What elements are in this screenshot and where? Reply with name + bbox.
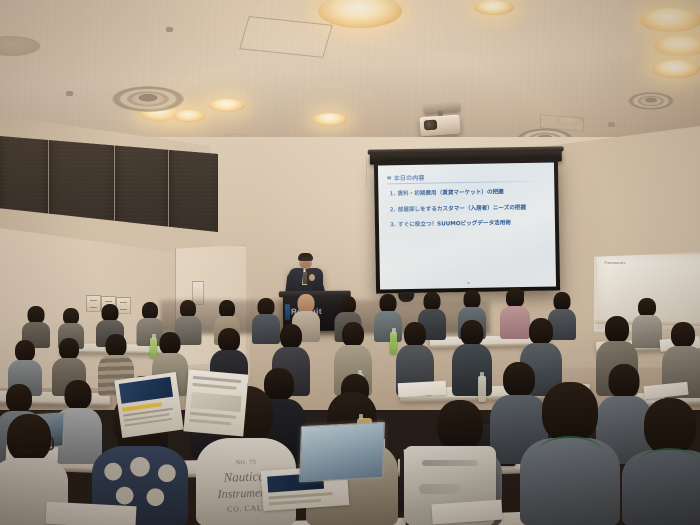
projector-lens <box>424 120 438 131</box>
audience-area: NO. 75 Nautical Instruments CO. CAL. <box>0 288 700 525</box>
attendee-lanyard <box>639 448 700 478</box>
booklet-line <box>269 499 321 506</box>
sprinkler-head <box>608 122 615 127</box>
slide-page-marker <box>466 282 469 284</box>
downlight <box>640 8 700 32</box>
bullet-number: 2. <box>390 207 396 213</box>
bullet-text: すぐに役立つ！SUUMOビッグデータ活用術 <box>398 221 511 229</box>
handout-paper <box>398 381 447 397</box>
backpack-seam <box>419 484 461 494</box>
attendee-head <box>644 398 696 454</box>
ceiling-projector <box>418 104 466 138</box>
attendee-head <box>280 324 302 349</box>
attendee <box>622 398 700 525</box>
attendee-lanyard <box>538 436 602 468</box>
attendee-torso <box>452 344 492 396</box>
slide-bullet-2: 2. 部屋探しをするカスタマー（入居者）ニーズの把握 <box>390 204 547 213</box>
booklet-line <box>189 419 231 426</box>
attendee-head <box>506 288 524 308</box>
open-booklet <box>114 372 183 438</box>
presenter-hair <box>298 253 313 261</box>
sweatshirt-text-line1: NO. 75 <box>236 460 257 468</box>
attendee-head <box>15 340 35 362</box>
screen-border: 本日の内容 1. 賃料・初期費用（賃貸マーケット）の把握 2. 部屋探しをするカ… <box>374 158 560 293</box>
attendee-head <box>6 384 32 413</box>
downlight <box>313 113 347 126</box>
wall-panel-seam <box>366 150 367 190</box>
open-booklet <box>183 370 248 437</box>
downlight <box>474 0 514 15</box>
downlight <box>209 99 245 112</box>
downlight <box>654 36 700 56</box>
downlight <box>652 60 700 78</box>
slide-bullet-marker-icon <box>387 176 391 180</box>
attendee-head <box>671 322 695 348</box>
slide-bullet-3: 3. すぐに役立つ！SUUMOビッグデータ活用術 <box>390 220 547 229</box>
booklet-line <box>269 492 333 499</box>
sprinkler-head <box>66 91 73 96</box>
slide-header-text: 本日の内容 <box>394 173 425 183</box>
bullet-number: 1. <box>389 191 395 197</box>
booklet-line <box>192 383 236 390</box>
handout-paper <box>45 502 136 525</box>
window-blind[interactable] <box>114 136 170 236</box>
attendee-head <box>404 322 426 347</box>
attendee-head <box>65 380 92 410</box>
attendee-head <box>160 332 181 355</box>
sprinkler-head <box>166 27 173 32</box>
backpack-strap <box>422 460 477 466</box>
attendee-head <box>437 400 483 450</box>
presenter-tie <box>303 272 307 284</box>
bullet-text: 賃料・初期費用（賃貸マーケット）の把握 <box>397 189 503 197</box>
seminar-room-photo: Panasonic 本日の内容 <box>0 0 700 525</box>
bullet-text: 部屋探しをするカスタマー（入居者）ニーズの把握 <box>398 205 526 213</box>
attendee <box>520 382 620 525</box>
attendee <box>452 320 492 396</box>
air-vent <box>628 92 674 110</box>
booklet-line <box>193 376 241 383</box>
tablet-screen <box>299 422 385 483</box>
booklet-photo <box>119 377 173 404</box>
attendee-head <box>605 316 629 343</box>
bullet-number: 3. <box>390 223 396 229</box>
drink-bottle <box>478 376 486 402</box>
slide-bullet-1: 1. 賃料・初期費用（賃貸マーケット）の把握 <box>389 189 546 198</box>
attendee-head <box>106 334 127 357</box>
slide-content: 本日の内容 1. 賃料・初期費用（賃貸マーケット）の把握 2. 部屋探しをするカ… <box>378 162 556 289</box>
sweatshirt-text-line4: CO. CAL. <box>227 503 265 514</box>
attendee-head <box>529 318 553 345</box>
tablet-device[interactable] <box>299 422 385 483</box>
booklet-figure <box>190 392 241 412</box>
downlight <box>173 110 205 122</box>
booklet-line <box>190 412 236 419</box>
projection-screen: 本日の内容 1. 賃料・初期費用（賃貸マーケット）の把握 2. 部屋探しをするカ… <box>374 158 560 293</box>
presenter-hand-microphone <box>309 274 315 281</box>
attendee-head <box>461 320 484 346</box>
attendee-head <box>218 328 240 352</box>
whiteboard-brand-label: Panasonic <box>605 260 626 265</box>
attendee-head <box>542 382 598 442</box>
air-vent <box>112 86 184 112</box>
slide-bullet-list: 1. 賃料・初期費用（賃貸マーケット）の把握 2. 部屋探しをするカスタマー（入… <box>389 189 547 239</box>
attendee-head <box>59 338 79 360</box>
attendee-head <box>342 322 364 347</box>
presenter-face-shadow <box>300 261 311 268</box>
